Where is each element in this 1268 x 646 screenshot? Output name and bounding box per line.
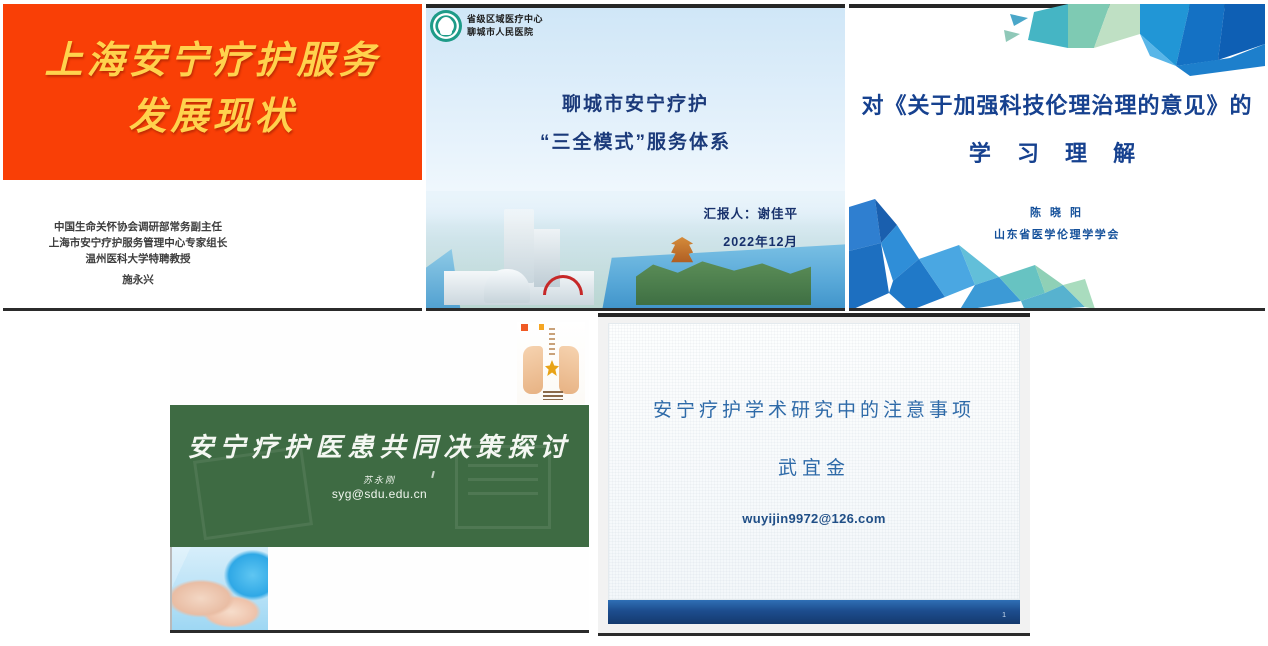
slide-4-author: 苏永刚 [170, 473, 589, 486]
slide-1-title-line-1: 上海安宁疗护服务 [3, 32, 422, 88]
slide-5-title: 安宁疗护学术研究中的注意事项 [598, 395, 1030, 422]
slide-1-title-line-2: 发展现状 [3, 88, 422, 144]
slide-1-title: 上海安宁疗护服务 发展现状 [3, 32, 422, 144]
slide-5-top-border [598, 313, 1030, 317]
slide-2-title-line-2: “三全模式”服务体系 [426, 124, 845, 162]
slide-1-lower-area: 中国生命关怀协会调研部常务副主任 上海市安宁疗护服务管理中心专家组长 温州医科大… [3, 180, 422, 311]
slide-3-title: 对《关于加强科技伦理治理的意见》的 学 习 理 解 [849, 82, 1265, 178]
slide-1-bottom-border [3, 308, 422, 311]
slide-2-title-line-1: 聊城市安宁疗护 [426, 86, 845, 124]
slide-3-bottom-border [849, 308, 1265, 311]
slide-4-green-band: 安宁疗护医患共同决策探讨 苏永刚 syg@sdu.edu.cn [170, 405, 589, 547]
slide-4-bottom-border [170, 630, 589, 633]
round-building [484, 269, 530, 303]
hospital-logo: 省级区域医疗中心 聊城市人民医院 [430, 10, 543, 42]
slide-1-credit-line-2: 上海市安宁疗护服务管理中心专家组长 [13, 235, 263, 251]
hospital-logo-line-1: 省级区域医疗中心 [467, 13, 543, 26]
slide-thumbnail-5[interactable]: 安宁疗护学术研究中的注意事项 武宜金 wuyijin9972@126.com 1 [598, 313, 1030, 636]
hospital-logo-line-2: 聊城市人民医院 [467, 26, 543, 39]
slide-4-lower-white-area [268, 547, 589, 633]
hospital-emblem-icon [430, 10, 462, 42]
slide-3-title-line-1: 对《关于加强科技伦理治理的意见》的 [849, 82, 1265, 130]
slide-4-title: 安宁疗护医患共同决策探讨 [170, 427, 589, 464]
slide-2-title: 聊城市安宁疗护 “三全模式”服务体系 [426, 86, 845, 162]
slide-thumbnail-2[interactable]: 省级区域医疗中心 聊城市人民医院 聊城市安宁疗护 “三全模式”服务体系 汇报人：… [426, 4, 845, 311]
slide-2-presenter-block: 汇报人：谢佳平 2022年12月 [703, 200, 798, 256]
slide-5-page-number: 1 [1002, 612, 1006, 619]
slide-5-email: wuyijin9972@126.com [598, 511, 1030, 526]
left-hand-shape [523, 346, 543, 394]
slide-2-date: 2022年12月 [703, 228, 798, 256]
slide-1-credit-line-3: 温州医科大学特聘教授 [13, 251, 263, 267]
slide-1-credits: 中国生命关怀协会调研部常务副主任 上海市安宁疗护服务管理中心专家组长 温州医科大… [13, 219, 263, 267]
slide-thumbnail-3[interactable]: 对《关于加强科技伦理治理的意见》的 学 习 理 解 陈 晓 阳 山东省医学伦理学… [849, 4, 1265, 311]
slide-2-presenter: 汇报人：谢佳平 [703, 200, 798, 228]
slide-thumbnail-4[interactable]: 安宁疗护医患共同决策探讨 苏永刚 syg@sdu.edu.cn [170, 320, 589, 633]
hospital-logo-text: 省级区域医疗中心 聊城市人民医院 [467, 13, 543, 39]
polygon-decoration-top-icon [990, 4, 1265, 82]
photo-footer-text [543, 391, 563, 400]
polygon-decoration-bottom-icon [849, 189, 1114, 311]
slide-5-author: 武宜金 [598, 453, 1030, 480]
hands-holding-leaf-photo [517, 322, 585, 404]
slide-thumbnail-1[interactable]: 上海安宁疗护服务 发展现状 中国生命关怀协会调研部常务副主任 上海市安宁疗护服务… [3, 4, 422, 311]
photo-marker-orange [521, 324, 528, 331]
right-hand-shape [559, 346, 579, 394]
slide-thumbnail-board: 上海安宁疗护服务 发展现状 中国生命关怀协会调研部常务副主任 上海市安宁疗护服务… [0, 0, 1268, 646]
photo-vertical-text [549, 328, 555, 356]
leaf-icon [545, 360, 559, 376]
caring-hands-photo [172, 547, 268, 630]
slide-1-author: 施永兴 [13, 272, 263, 287]
slide-5-footer-bar [608, 600, 1020, 624]
slide-2-top-border [426, 4, 845, 8]
slide-1-credit-line-1: 中国生命关怀协会调研部常务副主任 [13, 219, 263, 235]
slide-4-email: syg@sdu.edu.cn [170, 487, 589, 501]
slide-5-bottom-border [598, 633, 1030, 636]
photo-marker-yellow [539, 324, 544, 330]
slide-2-bottom-border [426, 308, 845, 311]
slide-3-title-line-2: 学 习 理 解 [849, 130, 1265, 178]
